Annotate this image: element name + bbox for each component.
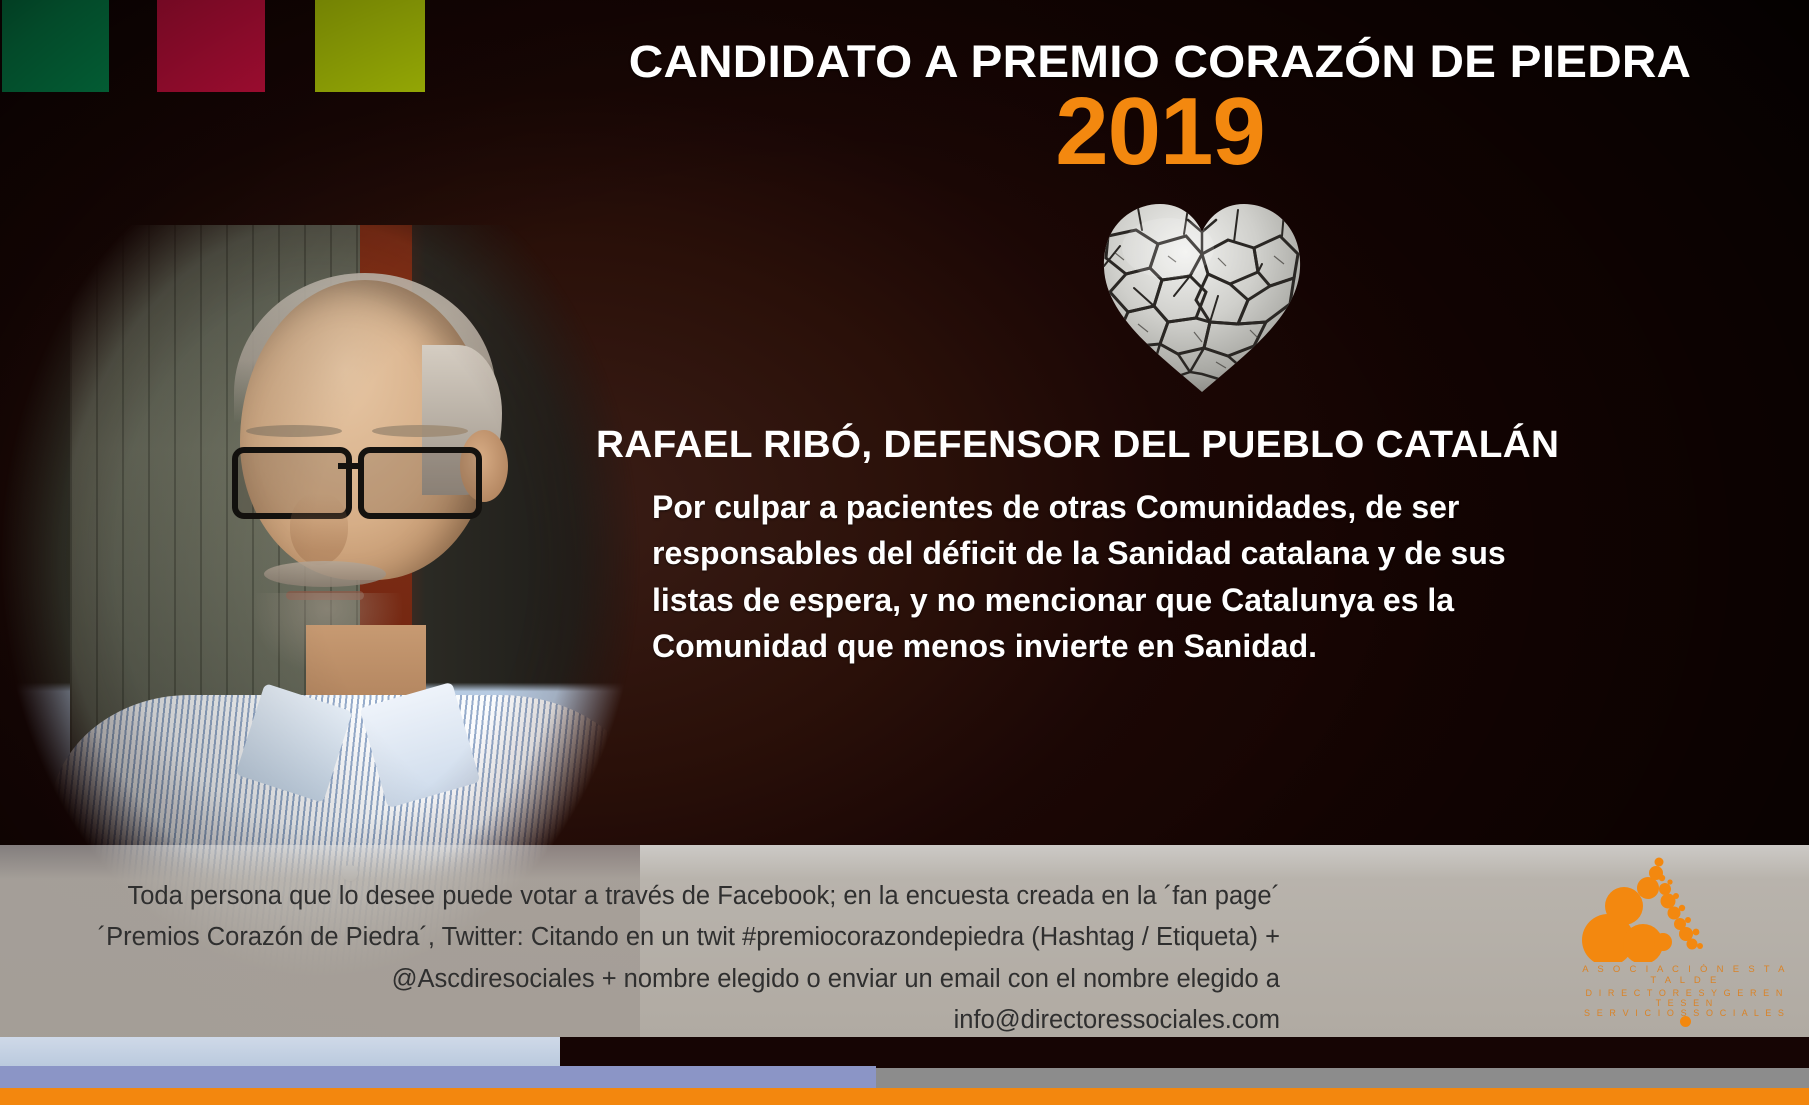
- logo-dot-icon: [1680, 1016, 1691, 1027]
- logo-line-2: D I R E C T O R E S Y G E R E N T E S E …: [1580, 988, 1790, 1008]
- bottom-bar-orange: [0, 1088, 1809, 1105]
- stone-heart-icon: [1098, 196, 1306, 396]
- portrait-brow-left: [246, 425, 342, 437]
- portrait-nose: [290, 493, 348, 565]
- portrait-glasses-icon: [232, 447, 487, 509]
- portrait-brow-right: [372, 425, 468, 437]
- bottom-photo-continuation: [0, 1037, 560, 1068]
- poster-canvas: CANDIDATO A PREMIO CORAZÓN DE PIEDRA 201…: [0, 0, 1809, 1105]
- logo-wordmark: A S O C I A C I Ó N E S T A T A L D E D …: [1580, 964, 1790, 1018]
- portrait-mustache: [264, 561, 386, 587]
- voting-instructions: Toda persona que lo desee puede votar a …: [80, 876, 1280, 1041]
- logo-line-1: A S O C I A C I Ó N E S T A T A L D E: [1580, 964, 1790, 986]
- color-chip-red: [157, 0, 265, 92]
- nominee-name: RAFAEL RIBÓ, DEFENSOR DEL PUEBLO CATALÁN: [596, 424, 1626, 467]
- nomination-reason: Por culpar a pacientes de otras Comunida…: [652, 484, 1532, 670]
- color-chip-green: [2, 0, 109, 92]
- poster-year: 2019: [560, 84, 1760, 180]
- bottom-bar-blue: [0, 1066, 876, 1088]
- ascdiresociales-logo-icon: A S O C I A C I Ó N E S T A T A L D E D …: [1580, 856, 1790, 1032]
- color-chip-lime: [315, 0, 425, 92]
